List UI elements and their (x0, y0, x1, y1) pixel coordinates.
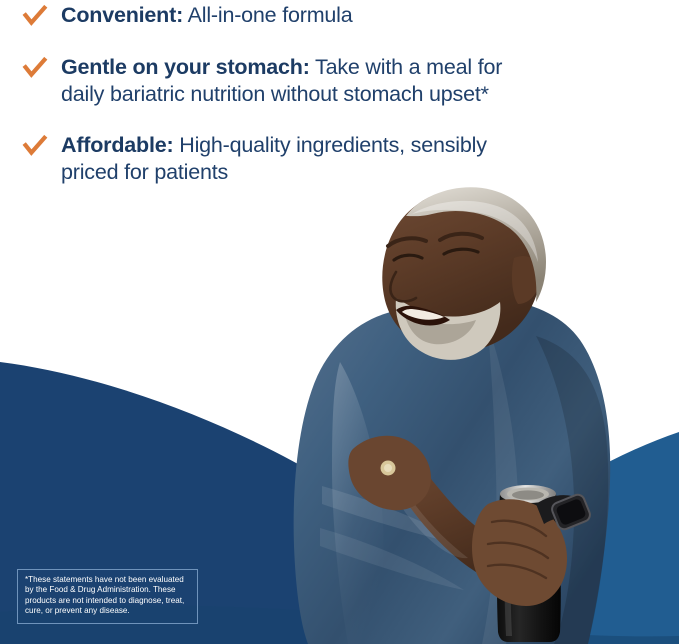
ring-stone (384, 464, 392, 472)
benefits-list: Convenient: All-in-one formula Gentle on… (0, 0, 520, 186)
check-icon (22, 3, 48, 29)
bottle-inner (512, 490, 544, 499)
benefit-lead: Affordable: (61, 133, 173, 157)
benefit-text: Gentle on your stomach: Take with a meal… (61, 54, 511, 108)
hero-photo-subject (236, 186, 656, 644)
benefit-text: Convenient: All-in-one formula (61, 2, 353, 29)
benefit-item-convenient: Convenient: All-in-one formula (0, 2, 520, 29)
benefit-item-gentle: Gentle on your stomach: Take with a meal… (0, 54, 520, 108)
benefit-lead: Gentle on your stomach: (61, 55, 310, 79)
benefit-text: Affordable: High-quality ingredients, se… (61, 132, 511, 186)
fda-disclaimer-box: *These statements have not been evaluate… (17, 569, 198, 624)
benefit-item-affordable: Affordable: High-quality ingredients, se… (0, 132, 520, 186)
fda-disclaimer-text: *These statements have not been evaluate… (25, 575, 190, 617)
benefit-body: All-in-one formula (183, 3, 352, 27)
promo-banner: Convenient: All-in-one formula Gentle on… (0, 0, 679, 644)
check-icon (22, 133, 48, 159)
benefit-lead: Convenient: (61, 3, 183, 27)
check-icon (22, 55, 48, 81)
